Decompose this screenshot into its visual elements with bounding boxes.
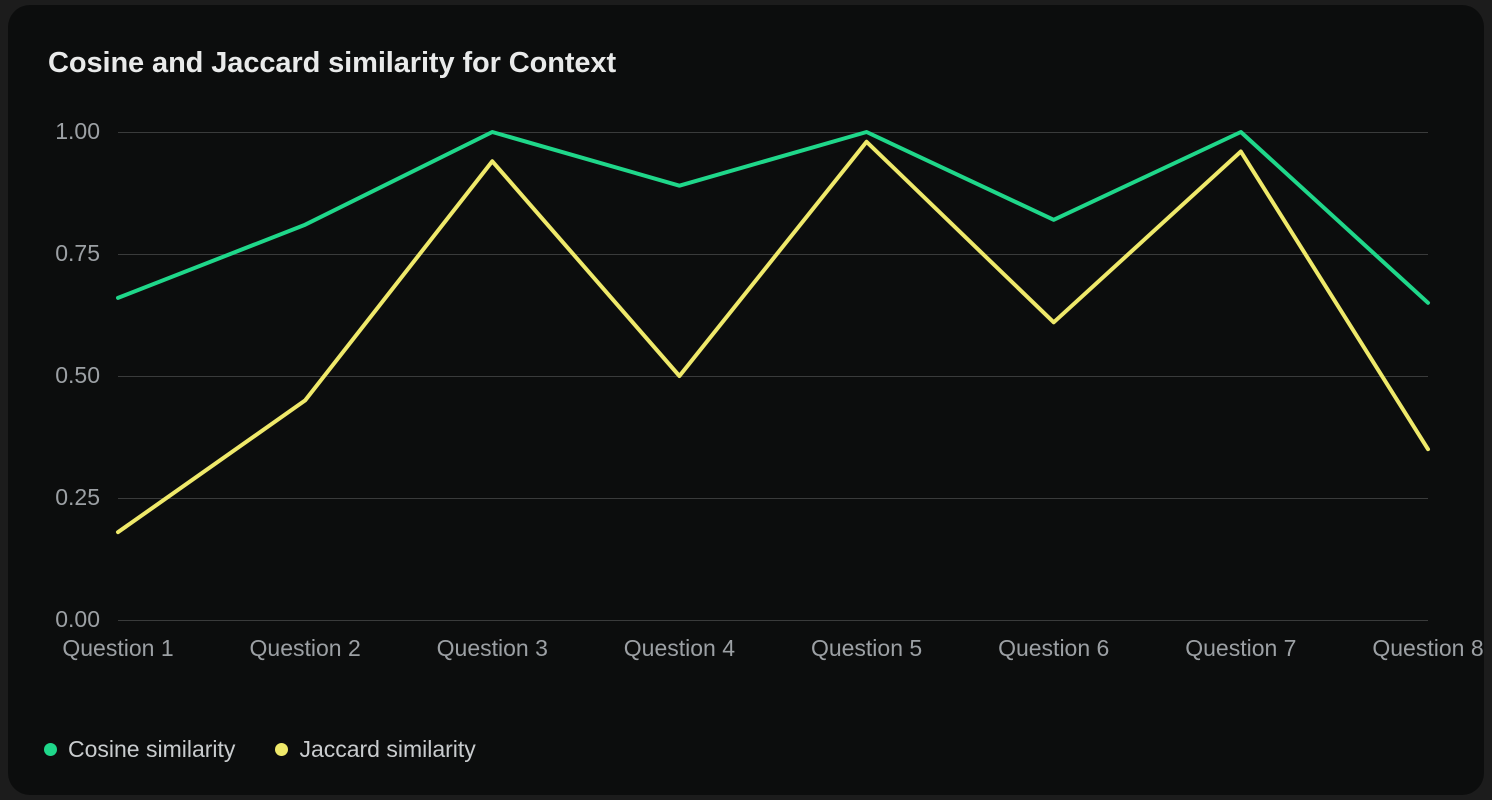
chart-card: Cosine and Jaccard similarity for Contex… [8,5,1484,795]
x-axis-tick-label: Question 7 [1185,635,1296,662]
y-axis-tick-label: 1.00 [8,118,100,145]
x-axis-tick-label: Question 3 [437,635,548,662]
x-axis-tick-label: Question 2 [250,635,361,662]
x-axis-tick-label: Question 8 [1372,635,1483,662]
chart-legend: Cosine similarityJaccard similarity [44,736,476,763]
legend-label: Cosine similarity [68,736,235,763]
x-axis-tick-label: Question 6 [998,635,1109,662]
x-axis-tick-label: Question 4 [624,635,735,662]
y-axis-tick-label: 0.25 [8,484,100,511]
legend-dot-icon [275,743,288,756]
x-axis-tick-label: Question 1 [62,635,173,662]
plot-area [118,132,1428,620]
y-axis-tick-label: 0.50 [8,362,100,389]
y-axis-tick-label: 0.75 [8,240,100,267]
legend-label: Jaccard similarity [299,736,475,763]
legend-item[interactable]: Cosine similarity [44,736,235,763]
legend-dot-icon [44,743,57,756]
y-axis-tick-label: 0.00 [8,606,100,633]
x-axis-tick-labels: Question 1Question 2Question 3Question 4… [118,635,1428,669]
series-lines [118,132,1428,620]
legend-item[interactable]: Jaccard similarity [275,736,475,763]
x-axis-tick-label: Question 5 [811,635,922,662]
series-line [118,142,1428,532]
gridline [118,620,1428,621]
